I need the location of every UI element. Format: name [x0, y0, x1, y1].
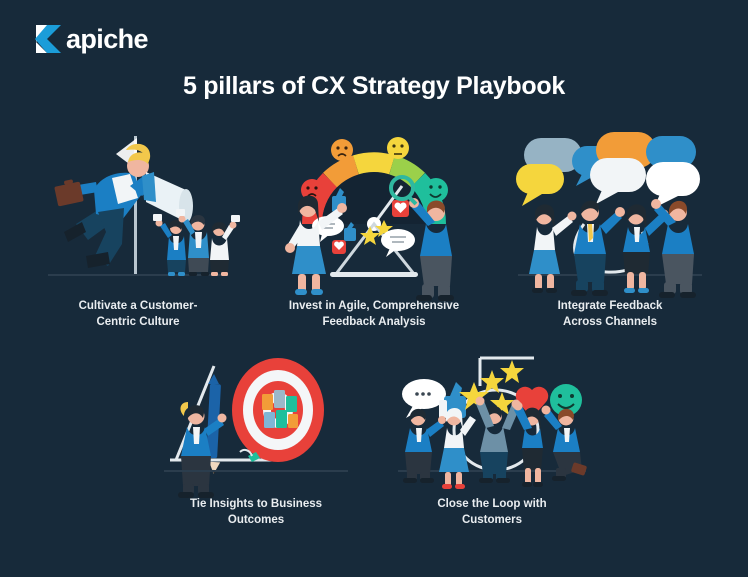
sticky-note [286, 396, 297, 412]
pillar-card-2[interactable]: Invest in Agile, Comprehensive Feedback … [256, 128, 492, 330]
sticky-note [262, 394, 273, 410]
heart-icon [392, 200, 409, 217]
pillar-card-3[interactable]: Integrate Feedback Across Channels [492, 128, 728, 330]
illustration-speech-bubbles-team [510, 128, 710, 288]
man-figure-2 [651, 199, 696, 298]
infographic-page: apiche 5 pillars of CX Strategy Playbook [0, 0, 748, 577]
page-title: 5 pillars of CX Strategy Playbook [0, 72, 748, 101]
pillar-caption-3-line2: Across Channels [510, 314, 710, 330]
illustration-leader-with-megaphone [38, 128, 238, 288]
pillar-caption-5-line1: Close the Loop with [392, 496, 592, 512]
heart-icon-small [332, 240, 346, 254]
sticky-note [274, 390, 285, 408]
kapiche-k-logo-icon [34, 22, 68, 56]
speech-bubble-white-icon [590, 158, 646, 204]
pillar-caption-2-line2: Feedback Analysis [274, 314, 474, 330]
man-figure [571, 201, 625, 296]
pillars-row-bottom: Tie Insights to Business Outcomes [0, 352, 748, 528]
businessman-figure [178, 402, 227, 498]
pillar-card-5[interactable]: Close the Loop with Customers [374, 352, 610, 528]
illustration-close-the-loop-team [392, 352, 592, 482]
speech-bubble-yellow-icon [516, 164, 564, 206]
pillar-card-1[interactable]: Cultivate a Customer- Centric Culture [20, 128, 256, 330]
pillar-card-4[interactable]: Tie Insights to Business Outcomes [138, 352, 374, 528]
star-icon [500, 360, 524, 383]
illustration-target-and-pencil [156, 352, 356, 482]
man-with-briefcase-figure [542, 406, 588, 482]
sticky-note [288, 414, 298, 428]
pillar-caption-1-line1: Cultivate a Customer- [38, 298, 238, 314]
happy-face-icon [424, 178, 448, 202]
pillar-caption-3-line1: Integrate Feedback [510, 298, 710, 314]
pillar-caption-4: Tie Insights to Business Outcomes [156, 496, 356, 528]
woman-figure [529, 204, 577, 293]
pillars-row-top: Cultivate a Customer- Centric Culture [0, 128, 748, 330]
woman-figure-2 [514, 402, 544, 488]
pillar-caption-2: Invest in Agile, Comprehensive Feedback … [274, 298, 474, 330]
pillar-caption-1-line2: Centric Culture [38, 314, 238, 330]
frown-face-icon [331, 139, 353, 161]
illustration-satisfaction-gauge [274, 128, 474, 288]
sticky-note [264, 412, 275, 428]
neutral-face-icon [387, 137, 409, 159]
sticky-note [276, 410, 287, 428]
pillar-caption-5: Close the Loop with Customers [392, 496, 592, 528]
pillar-caption-4-line2: Outcomes [156, 512, 356, 528]
pillar-caption-5-line2: Customers [392, 512, 592, 528]
thumbs-up-icon-small [344, 222, 356, 241]
brand-logo-text: apiche [66, 22, 148, 56]
brand-logo[interactable]: apiche [34, 22, 148, 56]
pillar-caption-3: Integrate Feedback Across Channels [510, 298, 710, 330]
pillar-caption-1: Cultivate a Customer- Centric Culture [38, 298, 238, 330]
pillar-caption-4-line1: Tie Insights to Business [156, 496, 356, 512]
